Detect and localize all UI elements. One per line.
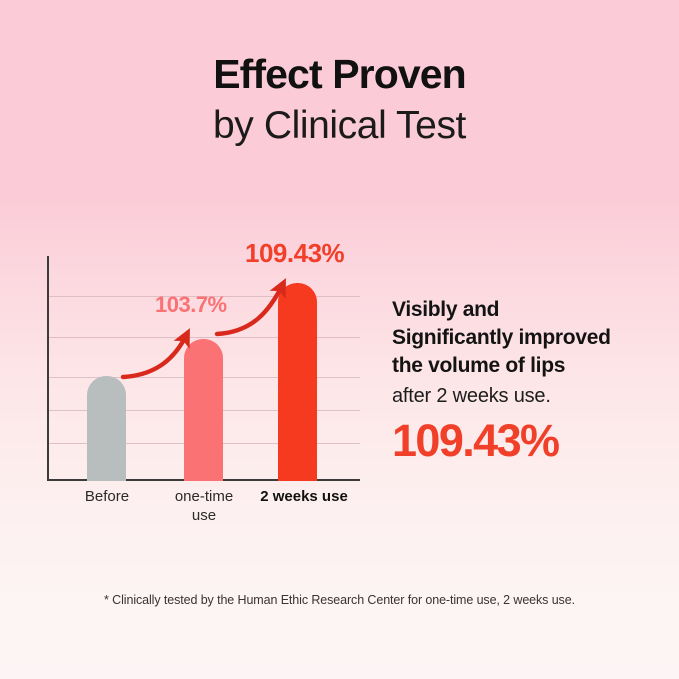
x-axis-label-before-text: Before bbox=[63, 488, 151, 507]
bar-one-time-use bbox=[184, 339, 223, 481]
bar-label-2-weeks-use: 109.43% bbox=[245, 238, 344, 269]
arrow-before-to-onetime bbox=[123, 334, 187, 377]
bar-before bbox=[87, 376, 126, 481]
benefit-headline: Visibly and Significantly improved the v… bbox=[392, 296, 662, 380]
x-axis-label-2-weeks-use-text: 2 weeks use bbox=[245, 488, 363, 507]
benefit-subtext: after 2 weeks use. bbox=[392, 383, 662, 410]
x-axis-labels: Before one-time use 2 weeks use bbox=[47, 488, 367, 536]
benefit-stat-value: 109.43% bbox=[392, 417, 662, 466]
benefit-headline-line-1: Visibly and bbox=[392, 296, 662, 324]
page-title-line-1: Effect Proven bbox=[0, 52, 679, 98]
x-axis-label-one-time-use: one-time use bbox=[160, 488, 248, 526]
page-title: Effect Proven by Clinical Test bbox=[0, 52, 679, 149]
benefit-copy-block: Visibly and Significantly improved the v… bbox=[392, 296, 662, 465]
footnote-disclaimer: * Clinically tested by the Human Ethic R… bbox=[0, 593, 679, 607]
x-axis-label-before: Before bbox=[63, 488, 151, 507]
benefit-headline-line-3: the volume of lips bbox=[392, 352, 662, 380]
clinical-test-bar-chart: 103.7% 109.43% Before one-time use 2 wee… bbox=[47, 236, 367, 536]
bar-2-weeks-use bbox=[278, 283, 317, 481]
x-axis-label-one-time-use-text: one-time use bbox=[160, 488, 248, 526]
bar-label-one-time-use: 103.7% bbox=[155, 292, 227, 318]
arrow-onetime-to-twoweeks bbox=[217, 284, 283, 334]
chart-plot-area: 103.7% 109.43% bbox=[47, 236, 367, 484]
x-axis-label-2-weeks-use: 2 weeks use bbox=[245, 488, 363, 507]
y-axis-line bbox=[47, 256, 49, 481]
benefit-headline-line-2: Significantly improved bbox=[392, 324, 662, 352]
page-title-line-2: by Clinical Test bbox=[0, 102, 679, 150]
